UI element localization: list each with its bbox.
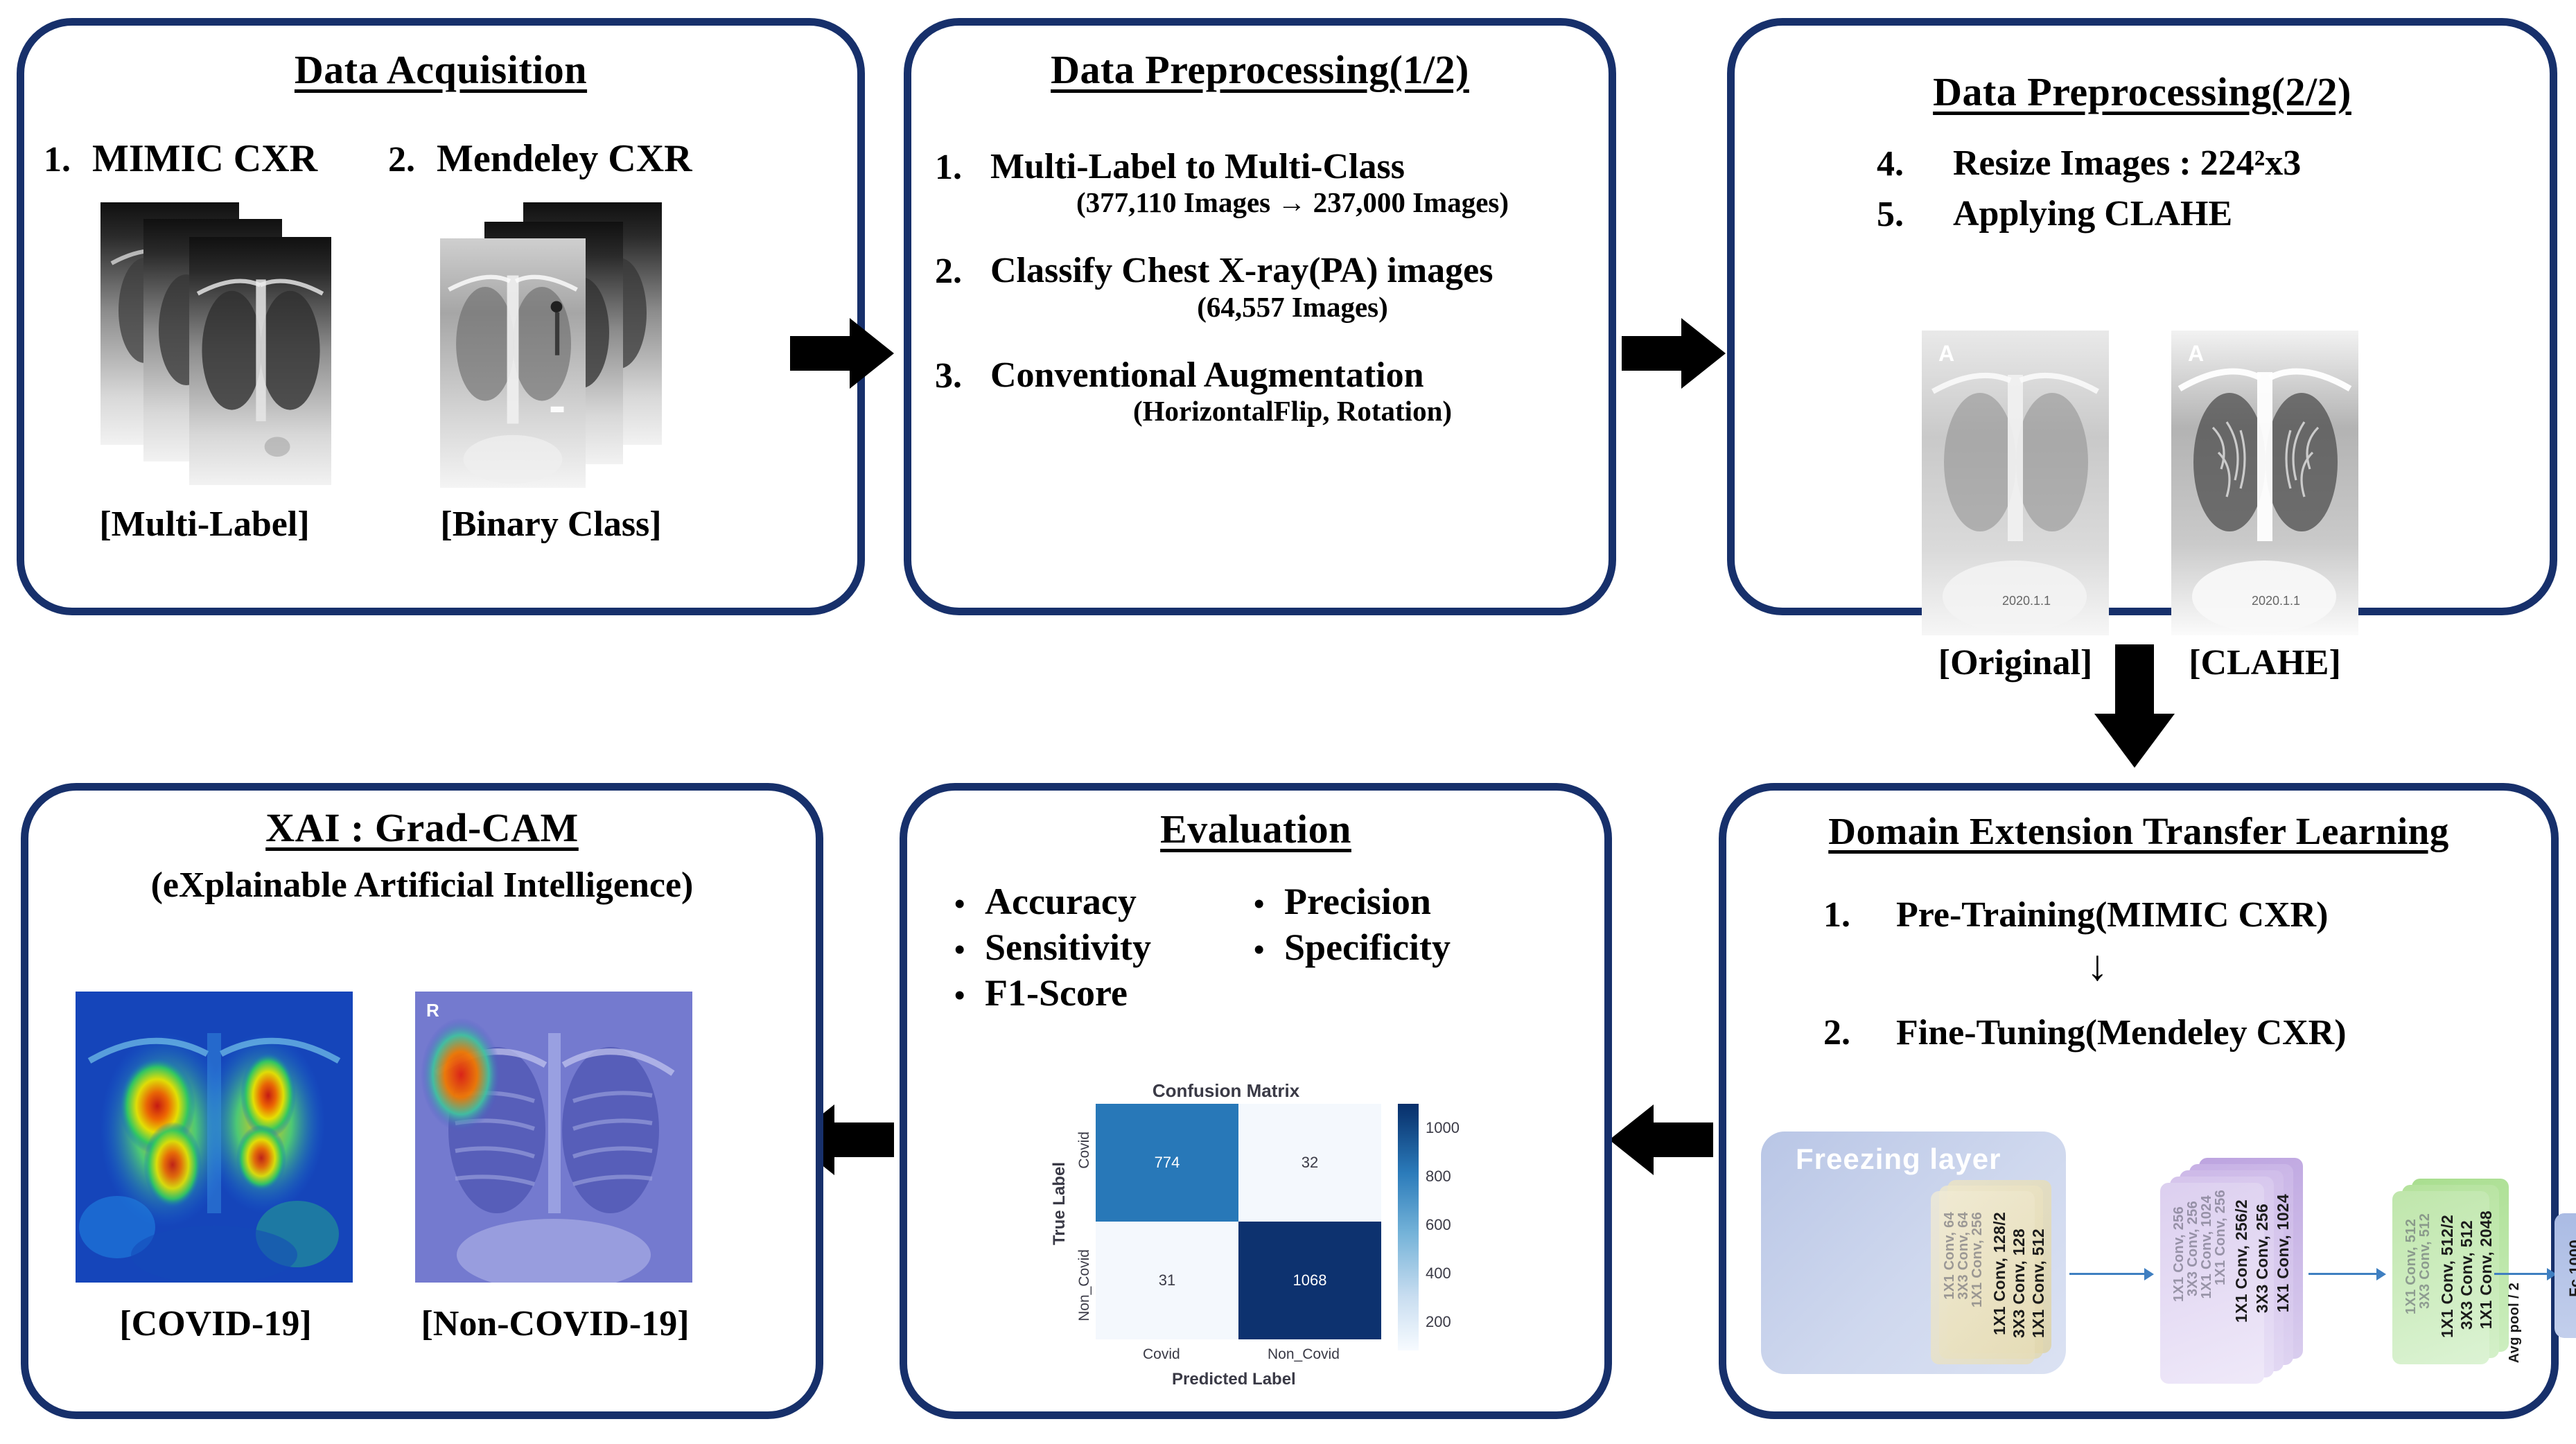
step-main-text: Fine-Tuning(Mendeley CXR) — [1896, 1013, 2347, 1053]
acquisition-item-2-label: Mendeley CXR — [437, 137, 692, 181]
matrix-cell: 31 — [1096, 1222, 1238, 1339]
freezing-layer-label: Freezing layer — [1796, 1143, 2001, 1176]
x-axis-label: Predicted Label — [1172, 1370, 1296, 1389]
x-tick-label: Non_Covid — [1268, 1346, 1340, 1363]
metric-label: Precision — [1284, 879, 1431, 925]
conv-label: 1X1 Conv, 512/2 — [2438, 1215, 2457, 1338]
colorbar-tick: 200 — [1426, 1313, 1451, 1331]
conv-label: 3X3 Conv, 512 — [2457, 1220, 2476, 1330]
bullet-icon: • — [954, 935, 985, 965]
xray-thumb — [189, 237, 331, 485]
box-transfer-learning[interactable]: Domain Extension Transfer Learning 1. Pr… — [1719, 783, 2559, 1419]
matrix-cell-value: 31 — [1159, 1271, 1175, 1289]
box-title-xai: XAI : Grad-CAM — [28, 807, 816, 849]
acquisition-item-2-caption: [Binary Class] — [402, 504, 700, 545]
colorbar-tick: 800 — [1426, 1168, 1451, 1186]
matrix-cell-value: 774 — [1155, 1154, 1180, 1172]
box-data-preprocessing-2[interactable]: Data Preprocessing(2/2) 4. Resize Images… — [1727, 18, 2557, 615]
cnn-connector — [2069, 1273, 2146, 1275]
step-main-text: Multi-Label to Multi-Class — [990, 147, 1595, 186]
step-number: 2. — [935, 251, 990, 292]
conv-label: 1X1 Conv, 256/2 — [2232, 1199, 2251, 1323]
box-title-data-preprocessing-2: Data Preprocessing(2/2) — [1735, 71, 2550, 114]
box-title-data-preprocessing-1: Data Preprocessing(1/2) — [911, 49, 1609, 91]
conv-label-faint: 1X1 Conv, 256 — [1970, 1212, 1986, 1307]
arrow-transfer-to-evaluation — [1609, 1102, 1713, 1178]
x-tick-label: Covid — [1143, 1346, 1180, 1363]
step-main-text: Applying CLAHE — [1953, 194, 2232, 234]
colorbar-tick: 1000 — [1426, 1119, 1460, 1137]
svg-text:A: A — [2188, 341, 2204, 366]
conv-label: 1X1 Conv, 1024 — [2274, 1194, 2293, 1312]
svg-text:2020.1.1: 2020.1.1 — [2002, 594, 2051, 608]
step-number: 1. — [935, 147, 990, 188]
svg-text:2020.1.1: 2020.1.1 — [2252, 594, 2300, 608]
mimic-xray-stack — [100, 202, 378, 479]
preprocessing1-step: 3. Conventional Augmentation (Horizontal… — [935, 355, 1595, 428]
conv-label-faint: 1X1 Conv, 256 — [2213, 1190, 2229, 1285]
conv-label: 3X3 Conv, 128 — [2010, 1229, 2029, 1338]
cnn-block-purple: 1X1 Conv, 256 3X3 Conv, 256 1X1 Conv, 10… — [2156, 1158, 2315, 1380]
preprocessing2-step: 4. Resize Images : 224²x3 — [1877, 143, 2301, 184]
xai-image-1-caption: [COVID-19] — [56, 1303, 375, 1344]
conv-label: 1X1 Conv, 512 — [2029, 1229, 2048, 1338]
box-title-evaluation: Evaluation — [907, 809, 1604, 851]
down-arrow-glyph: ↓ — [2087, 942, 2108, 989]
acquisition-item-2-number: 2. — [388, 139, 437, 180]
preprocessing2-image-2-caption: [CLAHE] — [2140, 642, 2390, 683]
confusion-matrix-title: Confusion Matrix — [1087, 1080, 1365, 1102]
transfer-step-2-row: 2. Fine-Tuning(Mendeley CXR) — [1823, 1012, 2347, 1053]
gradcam-noncovid-image: R — [415, 992, 692, 1283]
y-tick-label: Non_Covid — [1076, 1249, 1093, 1321]
step-number: 3. — [935, 355, 990, 396]
preprocessing1-step: 2. Classify Chest X-ray(PA) images (64,5… — [935, 251, 1595, 323]
step-main-text: Classify Chest X-ray(PA) images — [990, 251, 1595, 290]
xray-thumb — [440, 238, 586, 488]
step-number: 2. — [1823, 1012, 1896, 1053]
acquisition-item-1-caption: [Multi-Label] — [66, 504, 343, 545]
xai-image-2-caption: [Non-COVID-19] — [389, 1303, 721, 1344]
metric-item: • F1-Score — [954, 971, 1245, 1016]
matrix-cell: 1068 — [1238, 1222, 1381, 1339]
acquisition-item-1-number: 1. — [44, 139, 92, 180]
cnn-connector — [2494, 1273, 2548, 1275]
flowchart-canvas: Data Acquisition 1. MIMIC CXR 2. Mendele… — [0, 0, 2576, 1444]
metric-item: • Specificity — [1254, 925, 1545, 971]
cnn-connector-arrowhead — [2144, 1268, 2154, 1280]
y-tick-label: Covid — [1076, 1132, 1093, 1169]
evaluation-metrics-left: • Accuracy • Sensitivity • F1-Score — [954, 879, 1245, 1016]
metric-label: Accuracy — [985, 879, 1137, 925]
bullet-icon: • — [1254, 935, 1284, 965]
confusion-matrix-grid: 774 32 31 1068 — [1096, 1104, 1381, 1339]
preprocessing2-step-list: 4. Resize Images : 224²x3 5. Applying CL… — [1877, 143, 2301, 235]
confusion-matrix-chart: Confusion Matrix 774 32 31 1068 Covid No… — [1046, 1080, 1489, 1406]
y-axis-label: True Label — [1050, 1162, 1069, 1245]
arrow-preprocessing2-to-transfer — [2093, 644, 2176, 769]
bullet-icon: • — [1254, 889, 1284, 919]
conv-label: 1X1 Conv, 128/2 — [1990, 1212, 2009, 1335]
fc-layer-label: Fc 1000 — [2566, 1240, 2576, 1297]
xai-subtitle: (eXplainable Artificial Intelligence) — [28, 865, 816, 906]
svg-text:R: R — [426, 1000, 439, 1021]
gradcam-covid-image — [76, 992, 353, 1283]
cnn-connector — [2308, 1273, 2378, 1275]
box-data-acquisition[interactable]: Data Acquisition 1. MIMIC CXR 2. Mendele… — [17, 18, 865, 615]
step-sub-text: (HorizontalFlip, Rotation) — [990, 395, 1595, 428]
metric-label: Specificity — [1284, 925, 1451, 971]
matrix-cell: 32 — [1238, 1104, 1381, 1222]
bullet-icon: • — [954, 980, 985, 1011]
matrix-cell: 774 — [1096, 1104, 1238, 1222]
step-number: 5. — [1877, 194, 1953, 235]
metric-label: F1-Score — [985, 971, 1128, 1016]
metric-item: • Precision — [1254, 879, 1545, 925]
step-main-text: Conventional Augmentation — [990, 355, 1595, 395]
metric-item: • Sensitivity — [954, 925, 1245, 971]
acquisition-item-1-header: 1. MIMIC CXR — [44, 137, 317, 181]
evaluation-metrics-right: • Precision • Specificity — [1254, 879, 1545, 971]
step-sub-text: (377,110 Images → 237,000 Images) — [990, 186, 1595, 219]
matrix-cell-value: 1068 — [1293, 1271, 1327, 1289]
step-number: 1. — [1823, 895, 1896, 935]
colorbar — [1398, 1104, 1419, 1350]
step-sub-text: (64,557 Images) — [990, 291, 1595, 324]
cnn-architecture-figure: Freezing layer 1X1 Conv, 64 3X3 Conv, 64… — [1754, 1116, 2544, 1393]
transfer-step-1-row: 1. Pre-Training(MIMIC CXR) — [1823, 895, 2328, 935]
conv-label: 3X3 Conv, 256 — [2253, 1204, 2272, 1313]
arrow-preprocessing1-to-preprocessing2 — [1622, 315, 1726, 391]
svg-text:A: A — [1938, 341, 1954, 366]
conv-label: 1X1 Conv, 2048 — [2477, 1210, 2496, 1329]
metric-label: Sensitivity — [985, 925, 1151, 971]
acquisition-item-2-header: 2. Mendeley CXR — [388, 137, 692, 181]
avg-pool-label: Avg pool / 2 — [2507, 1283, 2523, 1363]
preprocessing2-step: 5. Applying CLAHE — [1877, 194, 2301, 235]
step-main-text: Pre-Training(MIMIC CXR) — [1896, 895, 2328, 935]
conv-label-faint: 3X3 Conv, 512 — [2417, 1213, 2433, 1309]
preprocessing1-step-list: 1. Multi-Label to Multi-Class (377,110 I… — [935, 147, 1595, 428]
box-title-data-acquisition: Data Acquisition — [24, 49, 857, 91]
arrow-acquisition-to-preprocessing1 — [790, 315, 894, 391]
preprocessing1-step: 1. Multi-Label to Multi-Class (377,110 I… — [935, 147, 1595, 219]
bullet-icon: • — [954, 889, 985, 919]
box-title-transfer-learning: Domain Extension Transfer Learning — [1726, 811, 2551, 852]
step-main-text: Resize Images : 224²x3 — [1953, 143, 2301, 183]
box-xai-gradcam[interactable]: XAI : Grad-CAM (eXplainable Artificial I… — [21, 783, 823, 1419]
acquisition-item-1-label: MIMIC CXR — [92, 137, 317, 181]
matrix-cell-value: 32 — [1302, 1154, 1318, 1172]
box-evaluation[interactable]: Evaluation • Accuracy • Sensitivity • F1… — [900, 783, 1612, 1419]
mendeley-xray-stack — [440, 202, 717, 479]
transfer-step-arrow: ↓ — [2087, 944, 2108, 987]
box-data-preprocessing-1[interactable]: Data Preprocessing(1/2) 1. Multi-Label t… — [904, 18, 1616, 615]
colorbar-tick: 600 — [1426, 1216, 1451, 1234]
original-xray-image: A 2020.1.1 — [1922, 331, 2109, 635]
step-number: 4. — [1877, 143, 1953, 184]
clahe-xray-image: A 2020.1.1 — [2171, 331, 2358, 635]
colorbar-tick: 400 — [1426, 1265, 1451, 1283]
cnn-block-green: 1X1 Conv, 512 3X3 Conv, 512 1X1 Conv, 51… — [2381, 1179, 2520, 1373]
metric-item: • Accuracy — [954, 879, 1245, 925]
cnn-block-yellow: 1X1 Conv, 64 3X3 Conv, 64 1X1 Conv, 256 … — [1924, 1180, 2062, 1360]
